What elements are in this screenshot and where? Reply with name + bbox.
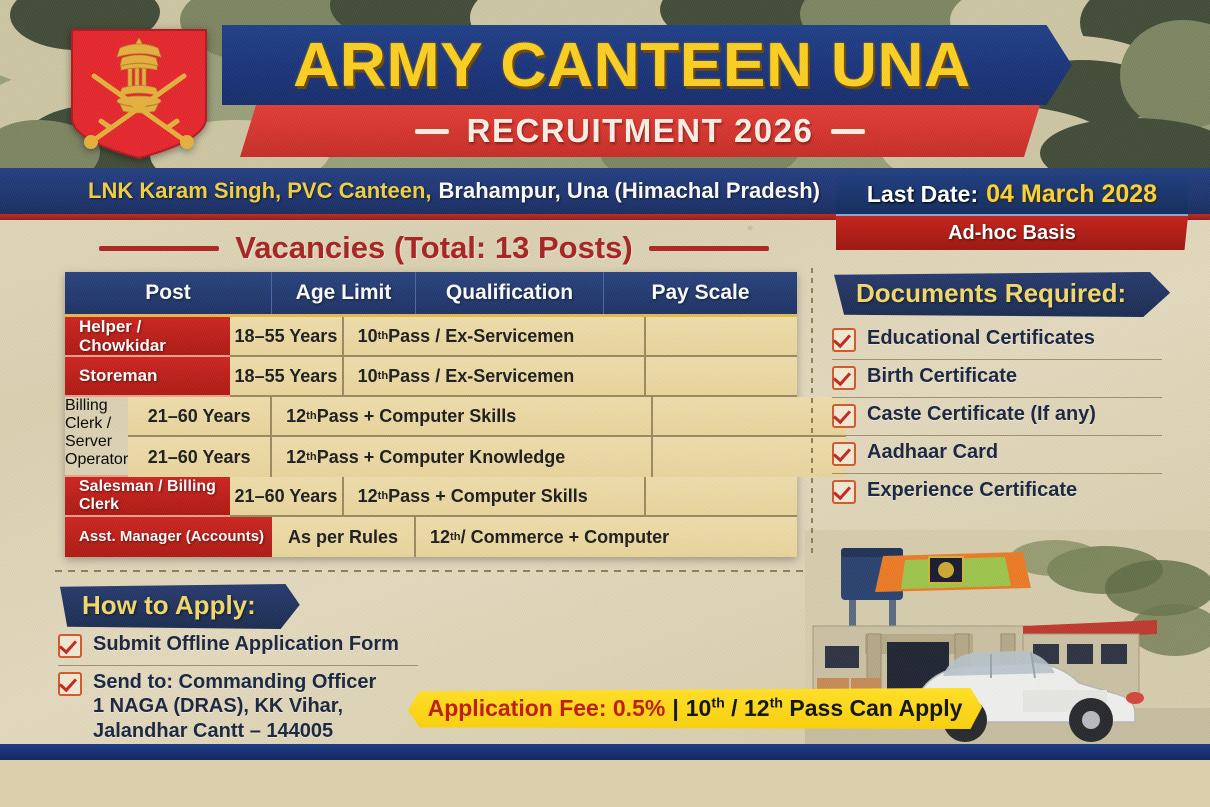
poster-title: ARMY CANTEEN UNA xyxy=(210,25,1055,105)
eligibility-label: 10th / 12th Pass Can Apply xyxy=(686,695,963,722)
horizontal-divider xyxy=(55,570,805,572)
heading-rule-left xyxy=(99,246,219,251)
documents-list: Educational Certificates Birth Certifica… xyxy=(832,322,1162,511)
cell-qualification: 12th Pass + Computer Knowledge xyxy=(272,437,653,477)
apply-step-label: Submit Offline Application Form xyxy=(93,632,399,656)
cell-qualification: 10th Pass / Ex-Servicemen xyxy=(344,357,646,397)
vacancies-heading: Vacancies (Total: 13 Posts) xyxy=(78,228,790,268)
checkbox-icon xyxy=(832,404,856,428)
cell-post-merged: Billing Clerk / Server Operator xyxy=(65,397,128,477)
how-to-apply-list: Submit Offline Application Form Send to:… xyxy=(58,628,418,750)
cell-post: Salesman / Billing Clerk xyxy=(65,477,230,517)
cell-age: 21–60 Years xyxy=(128,437,272,477)
checkbox-icon xyxy=(58,634,82,658)
last-date-label: Last Date: xyxy=(867,181,978,208)
application-fee-ribbon: Application Fee: 0.5% | 10th / 12th Pass… xyxy=(408,687,982,729)
table-row: 21–60 Years 12th Pass + Computer Skills xyxy=(128,397,846,437)
poster-subtitle-row: RECRUITMENT 2026 xyxy=(240,105,1040,157)
indian-army-crest-icon xyxy=(64,22,214,162)
table-row: Helper / Chowkidar 18–55 Years 10th Pass… xyxy=(65,317,797,357)
cell-age: 18–55 Years xyxy=(230,317,343,357)
apply-heading-text: How to Apply: xyxy=(60,584,300,629)
list-item: Experience Certificate xyxy=(832,474,1162,511)
cell-qualification: 12th Pass + Computer Skills xyxy=(344,477,646,517)
apply-section-heading: How to Apply: xyxy=(60,584,300,629)
fee-label: Application Fee: 0.5% xyxy=(428,695,666,722)
column-header-post: Post xyxy=(65,272,272,314)
column-header-age: Age Limit xyxy=(272,272,416,314)
document-label: Aadhaar Card xyxy=(867,440,998,464)
last-date-badge: Last Date: 04 March 2028 Ad-hoc Basis xyxy=(836,174,1188,250)
checkbox-icon xyxy=(832,480,856,504)
location-text: LNK Karam Singh, PVC Canteen, Brahampur,… xyxy=(88,168,820,214)
document-label: Caste Certificate (If any) xyxy=(867,402,1096,426)
last-date-row: Last Date: 04 March 2028 xyxy=(836,174,1188,216)
cell-payscale xyxy=(646,357,797,397)
document-label: Educational Certificates xyxy=(867,326,1095,350)
cell-payscale xyxy=(646,317,797,357)
column-header-payscale: Pay Scale xyxy=(604,272,797,314)
checkbox-icon xyxy=(832,442,856,466)
cell-age: 21–60 Years xyxy=(230,477,343,517)
cell-post: Helper / Chowkidar xyxy=(65,317,230,357)
document-label: Experience Certificate xyxy=(867,478,1077,502)
cell-payscale xyxy=(653,437,846,477)
document-label: Birth Certificate xyxy=(867,364,1017,388)
list-item: Aadhaar Card xyxy=(832,436,1162,474)
list-item: Send to: Commanding Officer 1 NAGA (DRAS… xyxy=(58,666,418,750)
cell-age: As per Rules xyxy=(272,517,416,557)
table-header-row: Post Age Limit Qualification Pay Scale xyxy=(65,272,797,317)
heading-rule-right xyxy=(649,246,769,251)
basis-label: Ad-hoc Basis xyxy=(836,216,1188,250)
documents-section-heading: Documents Required: xyxy=(834,272,1170,317)
cell-qualification: 12th / Commerce + Computer xyxy=(416,517,797,557)
vacancies-table: Post Age Limit Qualification Pay Scale H… xyxy=(65,272,797,557)
right-dash-icon xyxy=(831,129,865,134)
recruitment-poster: ARMY CANTEEN UNA RECRUITMENT 2026 LNK Ka… xyxy=(0,0,1210,760)
table-row-group-merged: Billing Clerk / Server Operator 21–60 Ye… xyxy=(65,397,797,477)
location-venue: LNK Karam Singh, PVC Canteen, xyxy=(88,178,432,204)
cell-post: Asst. Manager (Accounts) xyxy=(65,517,272,557)
cell-payscale xyxy=(646,477,797,517)
left-dash-icon xyxy=(415,129,449,134)
apply-address-label: Send to: Commanding Officer 1 NAGA (DRAS… xyxy=(93,670,376,743)
checkbox-icon xyxy=(832,366,856,390)
documents-heading-text: Documents Required: xyxy=(834,272,1170,317)
cell-payscale xyxy=(653,397,846,437)
table-row: Salesman / Billing Clerk 21–60 Years 12t… xyxy=(65,477,797,517)
table-row: Storeman 18–55 Years 10th Pass / Ex-Serv… xyxy=(65,357,797,397)
bottom-blue-bar xyxy=(0,744,1210,760)
location-place: Brahampur, Una (Himachal Pradesh) xyxy=(439,178,820,204)
table-row: Asst. Manager (Accounts) As per Rules 12… xyxy=(65,517,797,557)
cell-age: 18–55 Years xyxy=(230,357,343,397)
checkbox-icon xyxy=(58,672,82,696)
vacancies-heading-text: Vacancies (Total: 13 Posts) xyxy=(235,230,632,266)
vertical-divider xyxy=(811,268,813,556)
cell-post: Storeman xyxy=(65,357,230,397)
table-row: 21–60 Years 12th Pass + Computer Knowled… xyxy=(128,437,846,477)
list-item: Submit Offline Application Form xyxy=(58,628,418,666)
last-date-value: 04 March 2028 xyxy=(986,180,1157,209)
cell-qualification: 12th Pass + Computer Skills xyxy=(272,397,653,437)
column-header-qualification: Qualification xyxy=(416,272,604,314)
checkbox-icon xyxy=(832,328,856,352)
cell-age: 21–60 Years xyxy=(128,397,272,437)
poster-subtitle: RECRUITMENT 2026 xyxy=(467,112,814,150)
cell-qualification: 10th Pass / Ex-Servicemen xyxy=(344,317,646,357)
page-footer-area xyxy=(0,760,1210,807)
list-item: Caste Certificate (If any) xyxy=(832,398,1162,436)
fee-separator: | xyxy=(672,695,678,722)
list-item: Educational Certificates xyxy=(832,322,1162,360)
list-item: Birth Certificate xyxy=(832,360,1162,398)
